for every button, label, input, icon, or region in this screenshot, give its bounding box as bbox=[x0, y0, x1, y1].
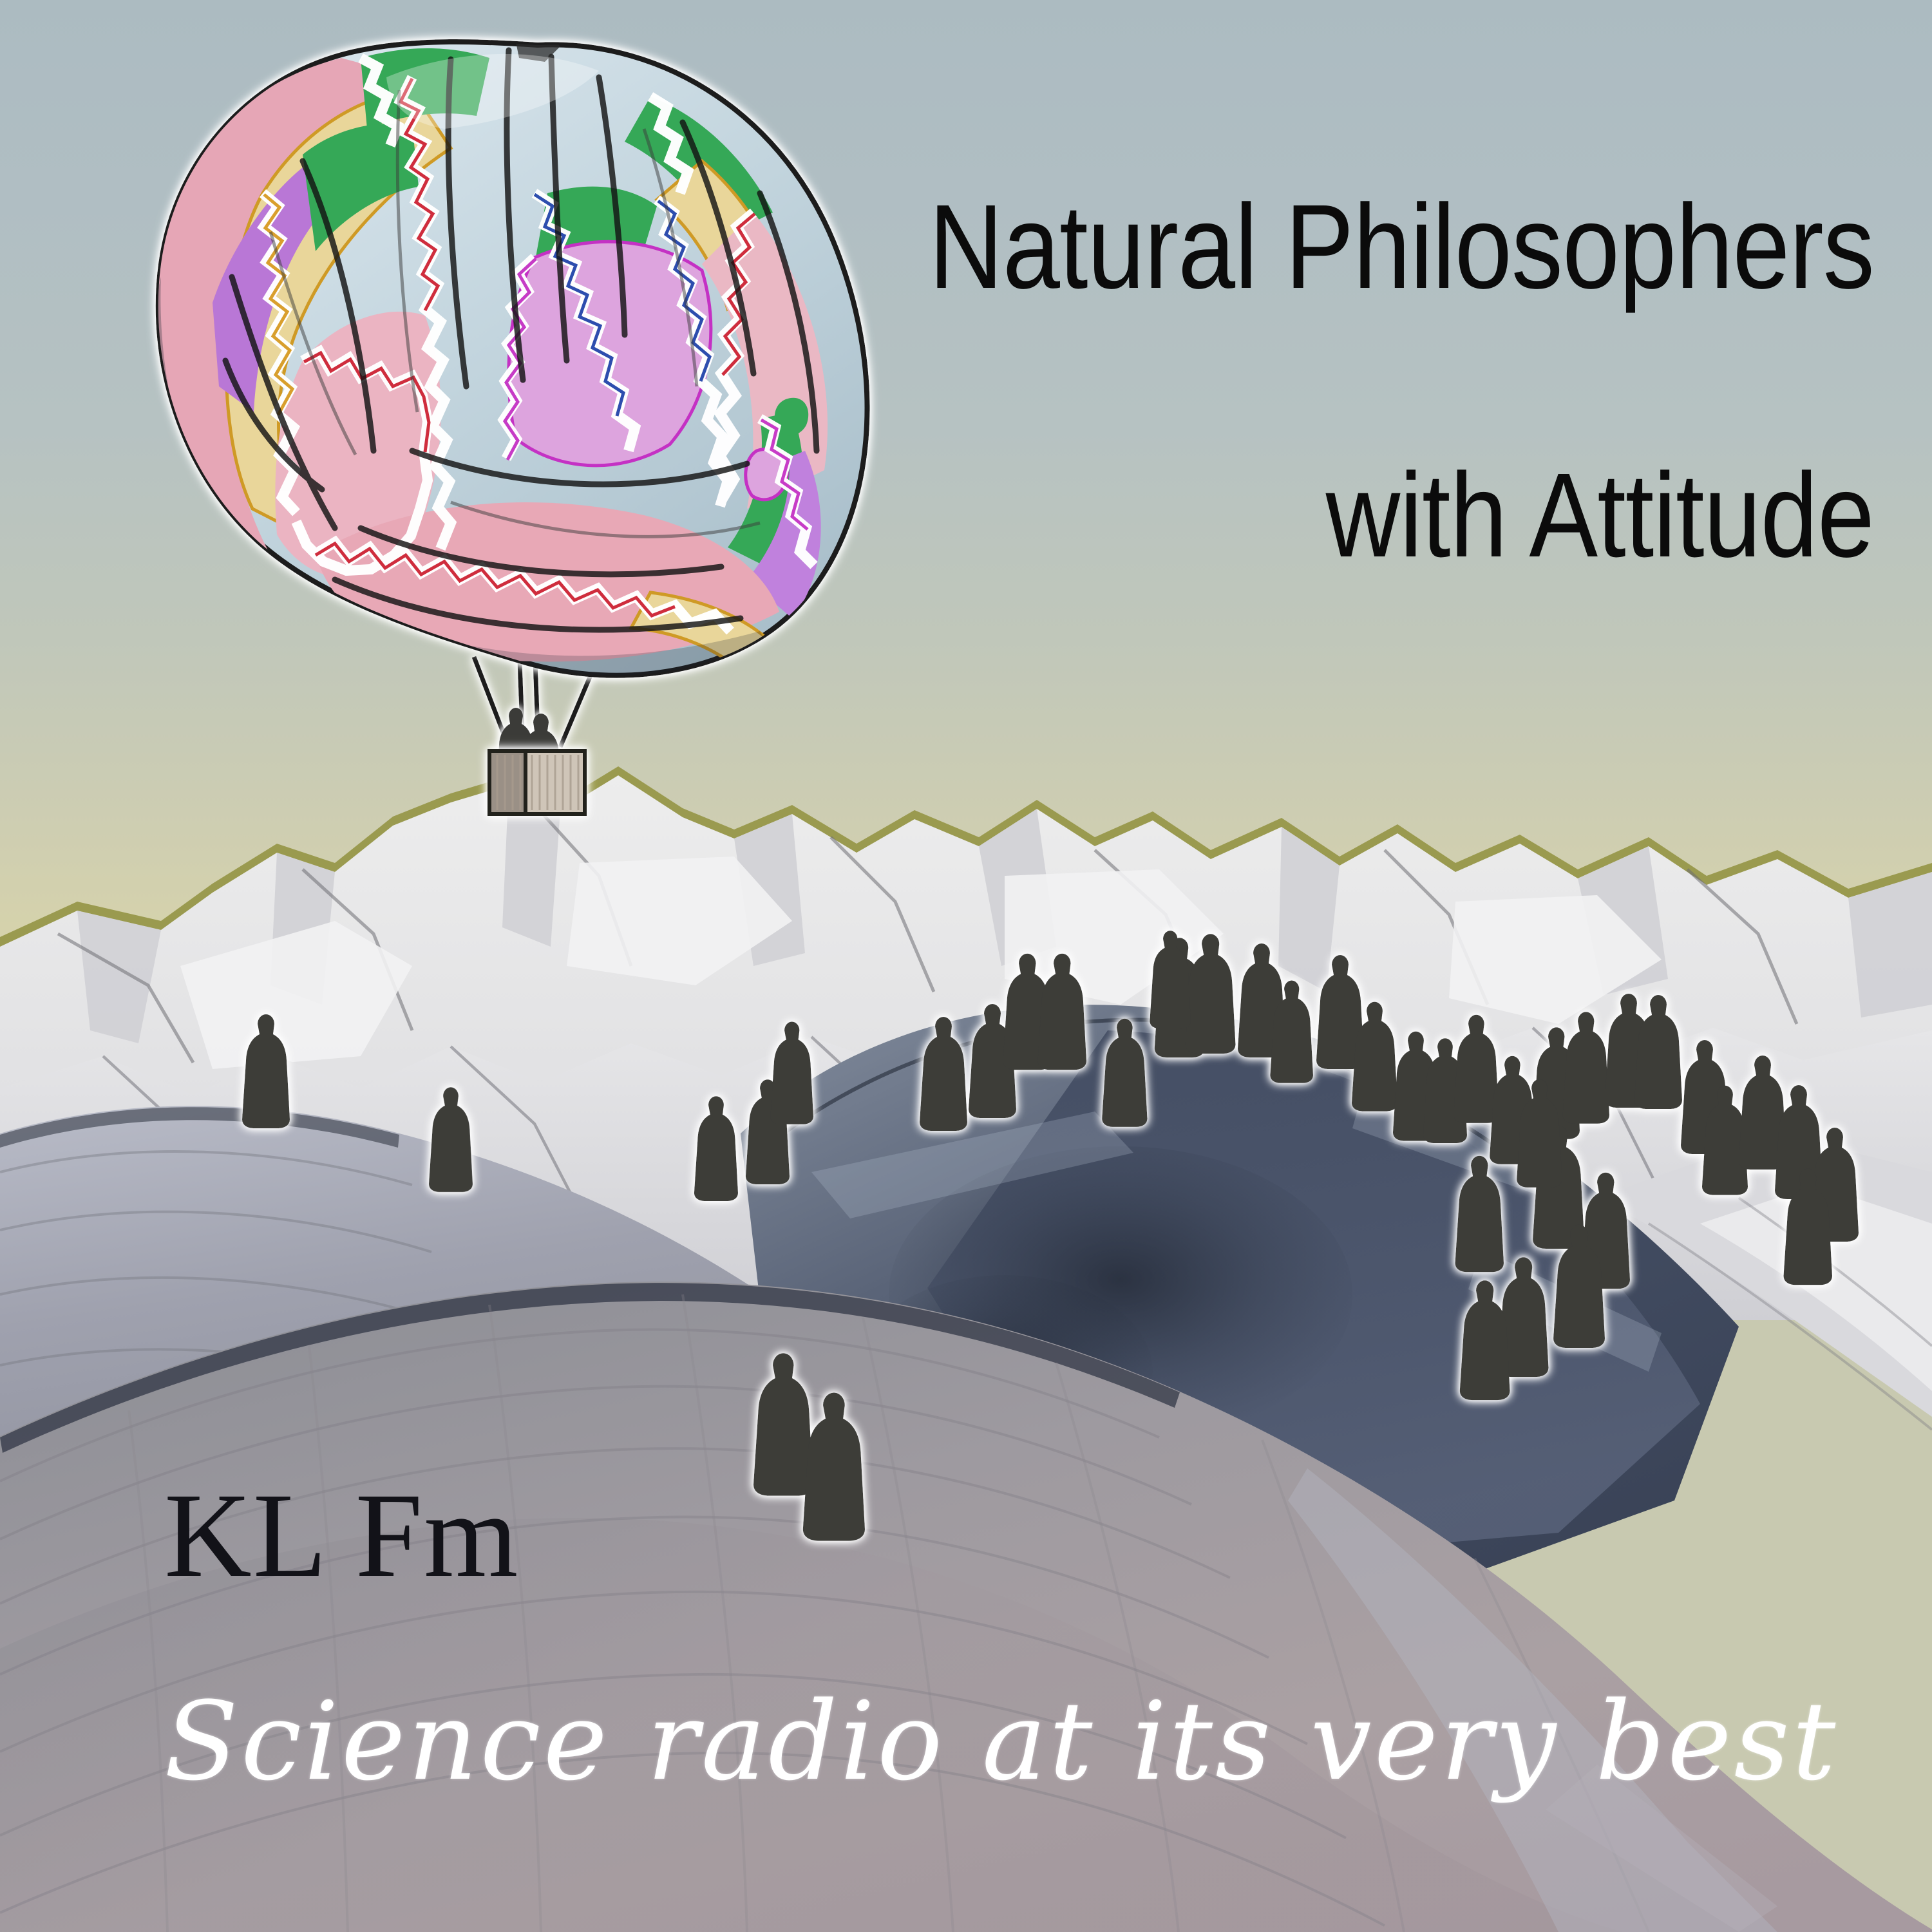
tagline: Science radio at its very best bbox=[164, 1687, 1838, 1795]
podcast-cover-art: Natural Philosophers with Attitude KL Fm… bbox=[0, 0, 1932, 1932]
title-line-2: with Attitude bbox=[711, 449, 1874, 583]
station-brand: KL Fm bbox=[164, 1475, 519, 1596]
balloon-basket bbox=[489, 751, 585, 814]
page-title: Natural Philosophers with Attitude bbox=[711, 46, 1874, 717]
title-line-1: Natural Philosophers bbox=[711, 180, 1874, 314]
